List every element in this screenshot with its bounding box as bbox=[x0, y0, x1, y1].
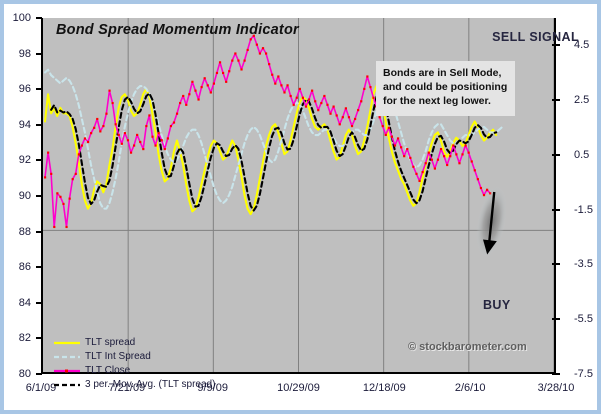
sell-signal-label: SELL SIGNAL bbox=[492, 30, 579, 44]
left-axis-tick-label: 86 bbox=[19, 261, 31, 273]
right-axis-tick bbox=[552, 209, 560, 211]
left-axis-tick bbox=[36, 195, 42, 197]
left-axis-tick-label: 100 bbox=[13, 12, 31, 24]
x-axis-tick-label: 3/28/10 bbox=[538, 382, 575, 394]
left-axis-tick-label: 90 bbox=[19, 190, 31, 202]
legend-swatch-icon bbox=[54, 380, 80, 390]
legend-item-label: TLT spread bbox=[85, 338, 135, 348]
left-axis-tick bbox=[36, 302, 42, 304]
left-axis-tick-label: 96 bbox=[19, 83, 31, 95]
right-axis-tick-label: -1.5 bbox=[574, 204, 593, 216]
right-axis-tick bbox=[552, 154, 560, 156]
legend-swatch-icon bbox=[54, 338, 80, 348]
right-axis-tick-label: -3.5 bbox=[574, 258, 593, 270]
left-axis-tick-label: 98 bbox=[19, 48, 31, 60]
left-axis-tick-label: 80 bbox=[19, 368, 31, 380]
left-axis-tick bbox=[36, 53, 42, 55]
right-axis-tick-label: -7.5 bbox=[574, 368, 593, 380]
legend-item-0: TLT spread bbox=[54, 336, 215, 350]
left-axis-tick-label: 88 bbox=[19, 226, 31, 238]
left-axis-tick-label: 84 bbox=[19, 297, 31, 309]
legend-item-1: TLT Int Spread bbox=[54, 350, 215, 364]
left-axis-tick bbox=[36, 88, 42, 90]
left-axis-tick bbox=[36, 159, 42, 161]
left-axis-tick bbox=[36, 17, 42, 19]
buy-label: BUY bbox=[483, 298, 511, 312]
legend-item-3: 3 per. Mov. Avg. (TLT spread) bbox=[54, 378, 215, 392]
x-axis-tick-label: 6/1/09 bbox=[26, 382, 57, 394]
left-axis-tick-label: 92 bbox=[19, 154, 31, 166]
chart-root: 80828486889092949698100 -7.5-5.5-3.5-1.5… bbox=[4, 4, 597, 410]
right-axis-tick bbox=[552, 373, 560, 375]
legend-item-label: 3 per. Mov. Avg. (TLT spread) bbox=[85, 380, 215, 390]
left-axis-tick-label: 94 bbox=[19, 119, 31, 131]
left-axis-tick-label: 82 bbox=[19, 332, 31, 344]
x-axis-tick-label: 2/6/10 bbox=[455, 382, 486, 394]
x-axis-tick-label: 10/29/09 bbox=[277, 382, 320, 394]
legend-item-label: TLT Int Spread bbox=[85, 352, 151, 362]
right-axis-tick bbox=[552, 263, 560, 265]
left-axis-tick bbox=[36, 124, 42, 126]
right-axis-tick bbox=[552, 99, 560, 101]
right-axis-tick-label: 0.5 bbox=[574, 149, 589, 161]
legend-swatch-icon bbox=[54, 352, 80, 362]
x-axis-tick-label: 12/18/09 bbox=[363, 382, 406, 394]
legend-swatch-icon bbox=[54, 366, 80, 376]
watermark: © stockbarometer.com bbox=[408, 341, 527, 353]
left-axis-tick bbox=[36, 266, 42, 268]
chart-legend: TLT spreadTLT Int SpreadTLT Close3 per. … bbox=[54, 336, 215, 392]
right-axis-tick-label: 2.5 bbox=[574, 94, 589, 106]
left-axis-tick bbox=[36, 231, 42, 233]
right-axis-tick bbox=[552, 44, 560, 46]
legend-item-2: TLT Close bbox=[54, 364, 215, 378]
right-axis-tick bbox=[552, 318, 560, 320]
page-title: Bond Spread Momentum Indicator bbox=[56, 22, 299, 38]
left-axis-tick bbox=[36, 373, 42, 375]
callout-annotation: Bonds are in Sell Mode, and could be pos… bbox=[376, 61, 515, 116]
left-axis-tick bbox=[36, 337, 42, 339]
legend-item-label: TLT Close bbox=[85, 366, 130, 376]
right-axis-tick-label: -5.5 bbox=[574, 313, 593, 325]
